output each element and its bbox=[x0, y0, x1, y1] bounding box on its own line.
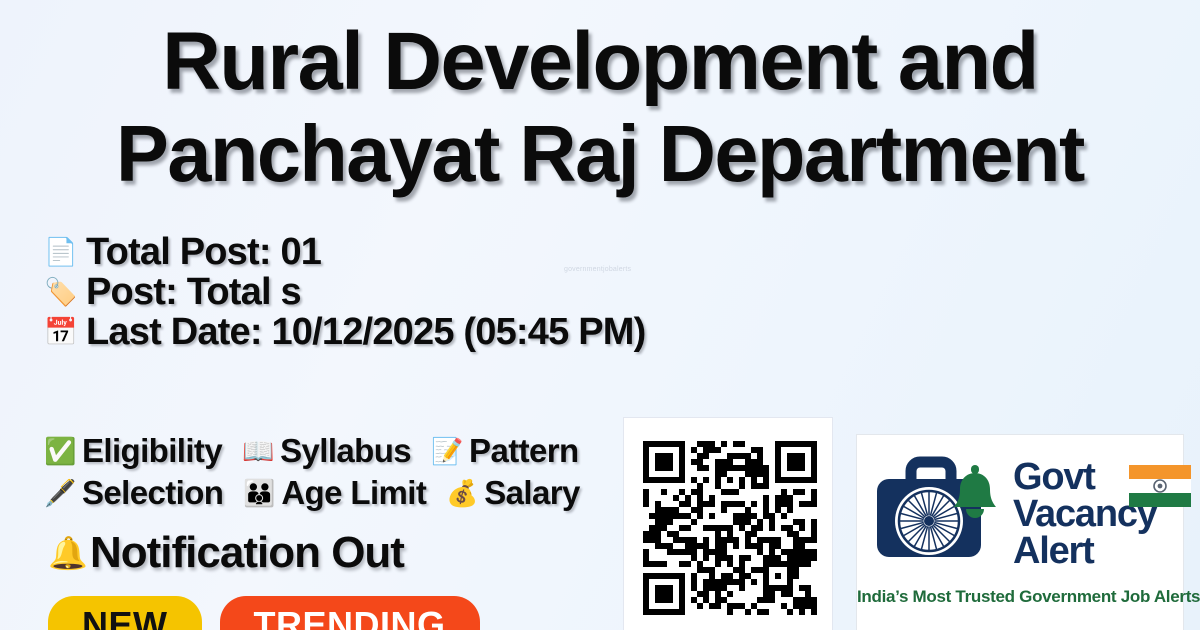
feature-pattern: 📝 Pattern bbox=[431, 433, 579, 469]
job-document-icon: 📄 bbox=[44, 239, 78, 266]
title-line-1: Rural Development and bbox=[6, 16, 1194, 108]
trending-badge[interactable]: TRENDING bbox=[220, 596, 480, 630]
brand-logo-mark: Govt Vacancy Alert bbox=[867, 449, 1175, 575]
info-row-post: 🏷️ Post: Total s bbox=[44, 272, 645, 312]
feature-grid: ✅ Eligibility 📖 Syllabus 📝 Pattern 🖋️ Se… bbox=[44, 430, 600, 514]
selection-hand-icon: 🖋️ bbox=[44, 480, 76, 506]
watermark-text: governmentjobalerts bbox=[564, 266, 631, 274]
check-mark-icon: ✅ bbox=[44, 438, 76, 464]
hot-badge-icon: 🏷️ bbox=[44, 279, 78, 306]
badge-row: NEW TRENDING bbox=[48, 596, 480, 630]
briefcase-chakra-bell-icon bbox=[867, 449, 1007, 569]
qr-code-card[interactable] bbox=[624, 418, 832, 630]
feature-syllabus: 📖 Syllabus bbox=[242, 433, 411, 469]
brand-line-3: Alert bbox=[1013, 533, 1157, 570]
page-title: Rural Development and Panchayat Raj Depa… bbox=[0, 16, 1200, 200]
feature-selection-label: Selection bbox=[82, 475, 223, 511]
brand-logo-card: Govt Vacancy Alert India’s Most Trusted … bbox=[856, 434, 1184, 630]
feature-row-1: ✅ Eligibility 📖 Syllabus 📝 Pattern bbox=[44, 430, 600, 472]
feature-salary-label: Salary bbox=[484, 475, 579, 511]
info-last-date-text: Last Date: 10/12/2025 (05:45 PM) bbox=[86, 312, 645, 352]
brand-tagline: India’s Most Trusted Government Job Aler… bbox=[857, 587, 1185, 607]
feature-row-2: 🖋️ Selection 👪 Age Limit 💰 Salary bbox=[44, 472, 600, 514]
feature-syllabus-label: Syllabus bbox=[280, 433, 411, 469]
notification-out-label: Notification Out bbox=[90, 528, 404, 578]
feature-eligibility-label: Eligibility bbox=[82, 433, 222, 469]
job-summary-list: 📄 Total Post: 01 🏷️ Post: Total s 📅 Last… bbox=[44, 232, 645, 352]
feature-pattern-label: Pattern bbox=[469, 433, 579, 469]
job-alert-banner: Rural Development and Panchayat Raj Depa… bbox=[0, 0, 1200, 630]
info-post-text: Post: Total s bbox=[86, 272, 301, 312]
info-total-post-text: Total Post: 01 bbox=[86, 232, 321, 272]
new-badge[interactable]: NEW bbox=[48, 596, 202, 630]
money-bag-icon: 💰 bbox=[446, 480, 478, 506]
title-line-2: Panchayat Raj Department bbox=[6, 108, 1194, 200]
feature-age-limit-label: Age Limit bbox=[281, 475, 426, 511]
bell-icon: 🔔 bbox=[46, 537, 90, 569]
open-book-icon: 📖 bbox=[242, 438, 274, 464]
feature-age-limit: 👪 Age Limit bbox=[243, 475, 426, 511]
qr-code-image[interactable] bbox=[643, 441, 817, 615]
info-row-last-date: 📅 Last Date: 10/12/2025 (05:45 PM) bbox=[44, 312, 645, 352]
feature-salary: 💰 Salary bbox=[446, 475, 579, 511]
notification-out-block: 🔔 Notification Out bbox=[46, 528, 404, 578]
calendar-icon: 📅 bbox=[44, 319, 78, 346]
exam-paper-icon: 📝 bbox=[431, 438, 463, 464]
india-flag-icon bbox=[1129, 465, 1191, 507]
info-row-total-post: 📄 Total Post: 01 bbox=[44, 232, 645, 272]
feature-eligibility: ✅ Eligibility bbox=[44, 433, 222, 469]
feature-selection: 🖋️ Selection bbox=[44, 475, 223, 511]
people-group-icon: 👪 bbox=[243, 480, 275, 506]
